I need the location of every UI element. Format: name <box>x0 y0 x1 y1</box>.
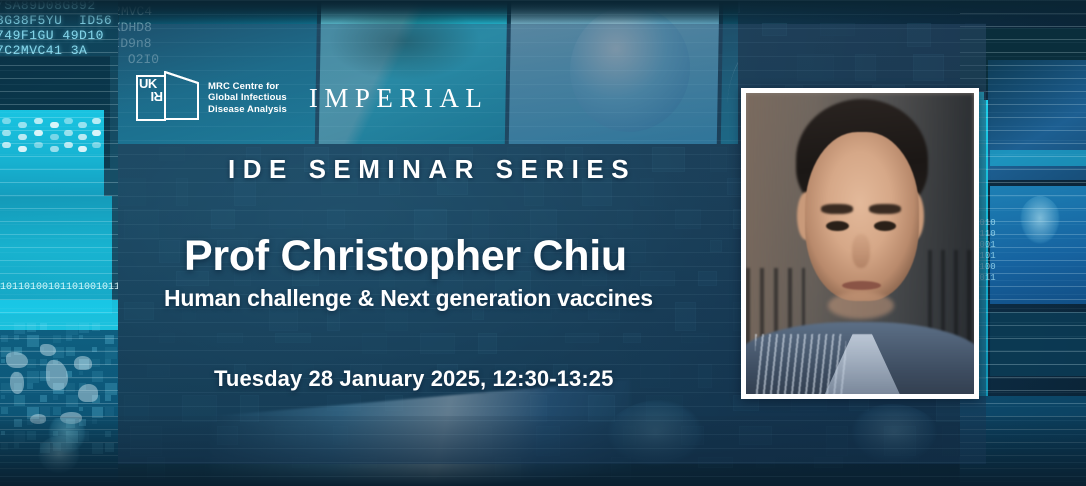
talk-title: Human challenge & Next generation vaccin… <box>164 285 653 312</box>
event-datetime: Tuesday 28 January 2025, 12:30-13:25 <box>214 366 613 392</box>
mrc-line-2: Global Infectious <box>208 92 287 104</box>
speaker-portrait-frame <box>741 88 979 399</box>
seminar-poster: 2MVC4 KDHD8 ID9n8 O2I0 /SA89D08G892 8G38… <box>0 0 1086 486</box>
mrc-centre-lockup: MRC Centre for Global Infectious Disease… <box>208 81 287 116</box>
logo-row: UK RI MRC Centre for Global Infectious D… <box>136 70 488 126</box>
mrc-line-1: MRC Centre for <box>208 81 287 93</box>
ukri-angular-shape-icon <box>164 71 200 121</box>
mrc-line-3: Disease Analysis <box>208 104 287 116</box>
ukri-logo: UK RI <box>136 71 200 125</box>
ukri-letters-bottom: RI <box>139 90 163 102</box>
speaker-name: Prof Christopher Chiu <box>184 232 627 281</box>
speaker-portrait-photo <box>746 93 974 394</box>
series-title: IDE SEMINAR SERIES <box>228 154 636 185</box>
poster-content: UK RI MRC Centre for Global Infectious D… <box>0 0 1086 486</box>
imperial-wordmark: IMPERIAL <box>309 83 489 114</box>
ukri-logo-letters: UK RI <box>139 78 163 102</box>
